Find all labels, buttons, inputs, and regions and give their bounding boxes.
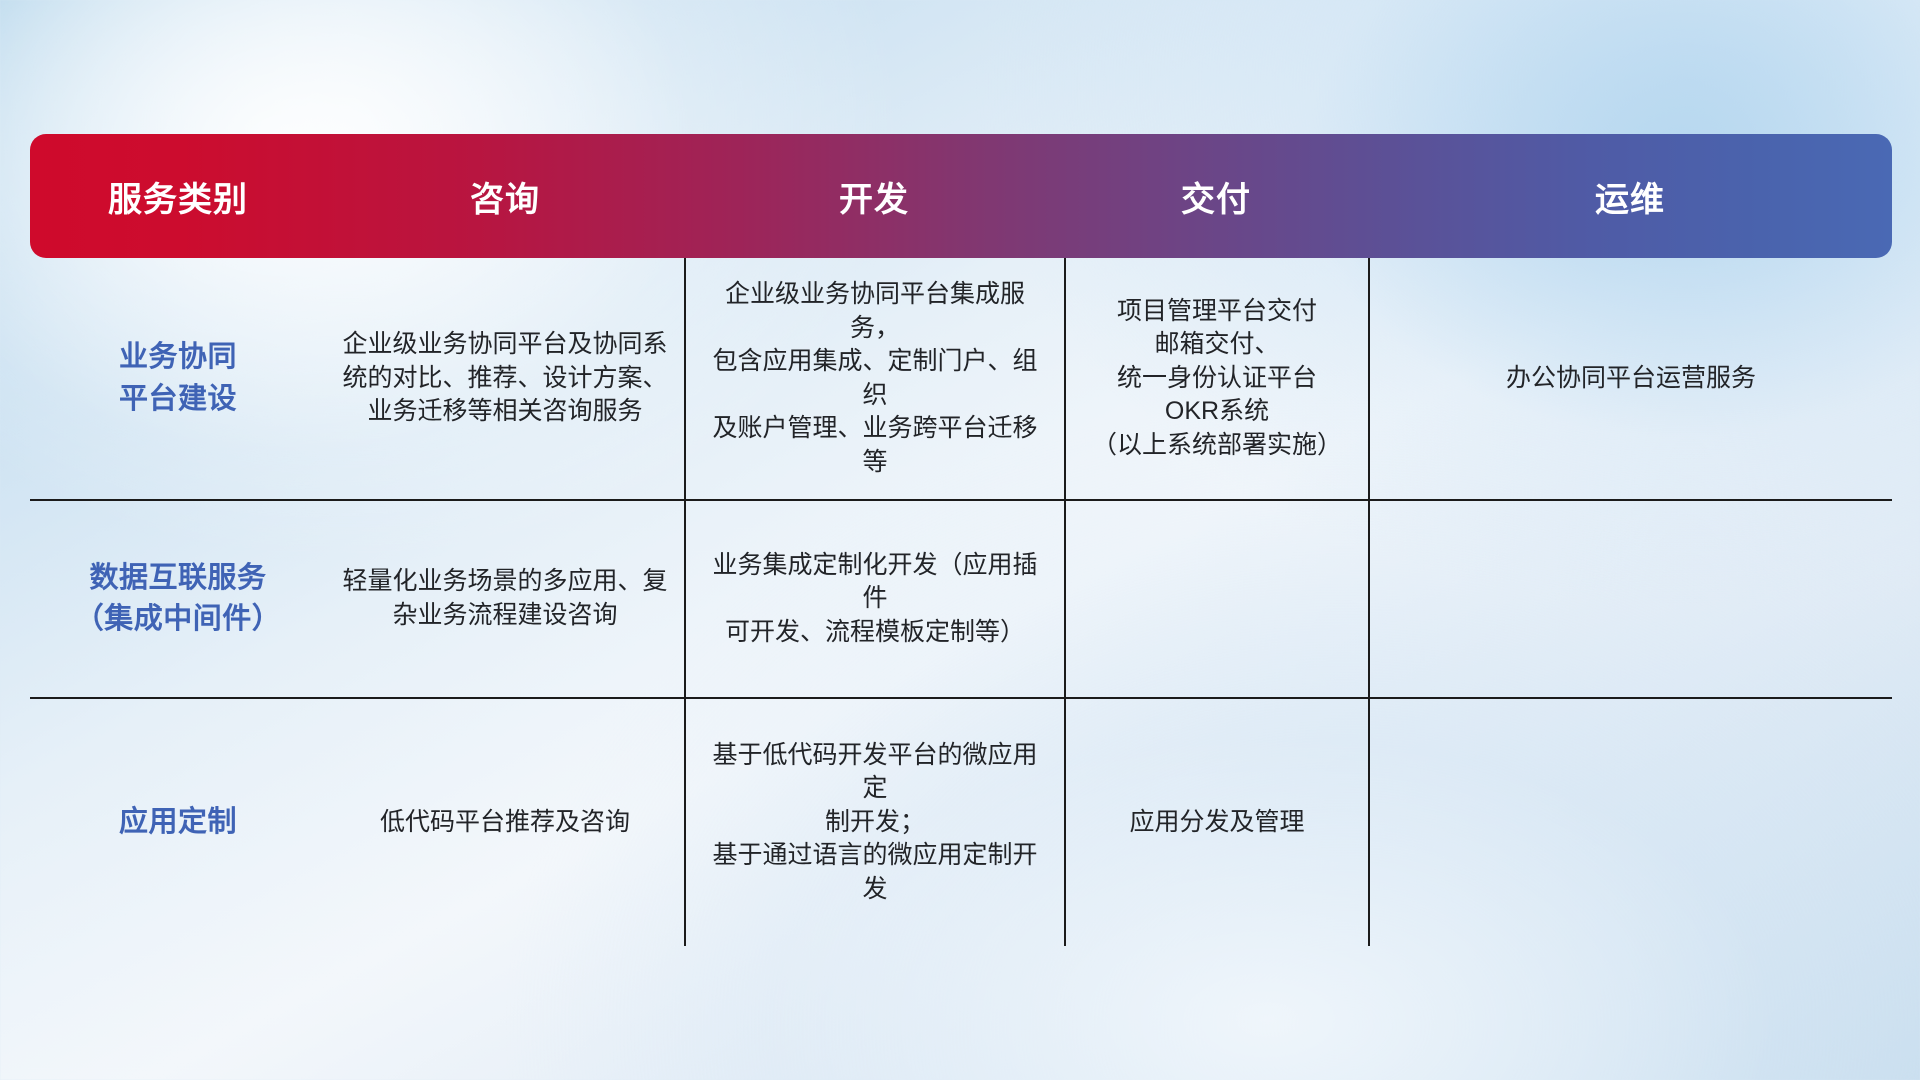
header-operations: 运维	[1368, 134, 1892, 258]
header-consulting: 咨询	[326, 134, 684, 258]
service-matrix-table: 服务类别 咨询 开发 交付 运维 业务协同 平台建设 企业级业务协同平台及协同系…	[30, 134, 1892, 946]
row-label-app-customization: 应用定制	[30, 697, 326, 946]
cell-r2-delivery	[1064, 499, 1368, 696]
slide-canvas: 服务类别 咨询 开发 交付 运维 业务协同 平台建设 企业级业务协同平台及协同系…	[0, 0, 1920, 1080]
table-row: 业务协同 平台建设 企业级业务协同平台及协同系 统的对比、推荐、设计方案、 业务…	[30, 258, 1892, 499]
table-head: 服务类别 咨询 开发 交付 运维	[30, 134, 1892, 258]
header-row: 服务类别 咨询 开发 交付 运维	[30, 134, 1892, 258]
cell-r1-consulting: 企业级业务协同平台及协同系 统的对比、推荐、设计方案、 业务迁移等相关咨询服务	[326, 258, 684, 499]
cell-r1-operations: 办公协同平台运营服务	[1368, 258, 1892, 499]
table-row: 应用定制 低代码平台推荐及咨询 基于低代码开发平台的微应用定 制开发； 基于通过…	[30, 697, 1892, 946]
table-body: 业务协同 平台建设 企业级业务协同平台及协同系 统的对比、推荐、设计方案、 业务…	[30, 258, 1892, 946]
cell-r3-operations	[1368, 697, 1892, 946]
header-delivery: 交付	[1064, 134, 1368, 258]
cell-r1-development: 企业级业务协同平台集成服务， 包含应用集成、定制门户、组织 及账户管理、业务跨平…	[684, 258, 1064, 499]
table-row: 数据互联服务 （集成中间件） 轻量化业务场景的多应用、复 杂业务流程建设咨询 业…	[30, 499, 1892, 696]
cell-r2-consulting: 轻量化业务场景的多应用、复 杂业务流程建设咨询	[326, 499, 684, 696]
header-development: 开发	[684, 134, 1064, 258]
row-label-business-collaboration: 业务协同 平台建设	[30, 258, 326, 499]
service-table: 服务类别 咨询 开发 交付 运维 业务协同 平台建设 企业级业务协同平台及协同系…	[30, 134, 1892, 946]
cell-r3-delivery: 应用分发及管理	[1064, 697, 1368, 946]
header-service-category: 服务类别	[30, 134, 326, 258]
cell-r3-development: 基于低代码开发平台的微应用定 制开发； 基于通过语言的微应用定制开发	[684, 697, 1064, 946]
cell-r2-development: 业务集成定制化开发（应用插件 可开发、流程模板定制等）	[684, 499, 1064, 696]
cell-r2-operations	[1368, 499, 1892, 696]
cell-r1-delivery: 项目管理平台交付 邮箱交付、 统一身份认证平台 OKR系统 （以上系统部署实施）	[1064, 258, 1368, 499]
row-label-data-interconnect: 数据互联服务 （集成中间件）	[30, 499, 326, 696]
cell-r3-consulting: 低代码平台推荐及咨询	[326, 697, 684, 946]
